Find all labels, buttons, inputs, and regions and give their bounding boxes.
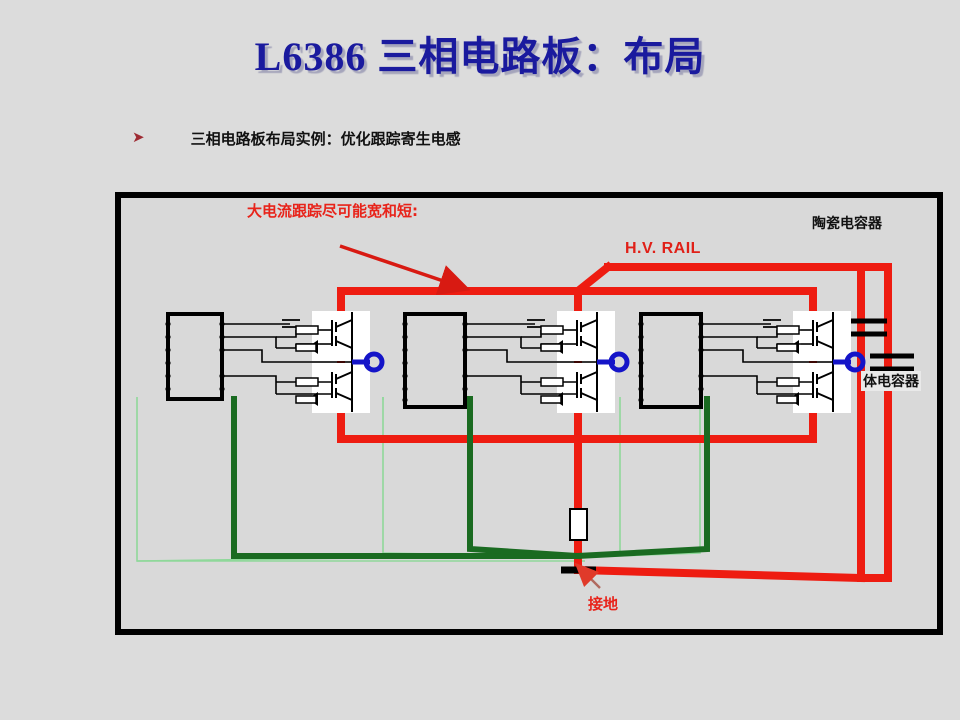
gate-resistor-low bbox=[296, 378, 318, 386]
driver-ic-body bbox=[641, 314, 701, 407]
mosfet-backplate-high bbox=[557, 311, 615, 361]
mosfet-backplate-low bbox=[557, 363, 615, 413]
output-node-terminal bbox=[611, 354, 627, 370]
gate-resistor-high bbox=[296, 326, 318, 334]
driver-ic-body bbox=[168, 314, 222, 399]
gate-resistor-low bbox=[777, 378, 799, 386]
mosfet-backplate-high bbox=[793, 311, 851, 361]
output-node-terminal bbox=[366, 354, 382, 370]
ghost-ground-traces bbox=[137, 397, 700, 561]
phase-w bbox=[638, 311, 863, 413]
output-node-terminal bbox=[847, 354, 863, 370]
phase-u bbox=[165, 311, 382, 413]
mosfet-backplate-low bbox=[793, 363, 851, 413]
mosfet-backplate-high bbox=[312, 311, 370, 361]
driver-ic-body bbox=[405, 314, 465, 407]
circuit-diagram bbox=[0, 0, 960, 720]
ground-return-traces bbox=[234, 399, 707, 556]
shunt-resistor bbox=[570, 509, 587, 540]
ceramic-capacitor-label: 陶瓷电容器 bbox=[812, 213, 882, 233]
mosfet-backplate-low bbox=[312, 363, 370, 413]
wide-short-annotation: 大电流跟踪尽可能宽和短: bbox=[247, 200, 418, 221]
bulk-capacitor-label: 体电容器 bbox=[861, 371, 921, 391]
gate-resistor-high bbox=[777, 326, 799, 334]
slide-canvas: L6386 三相电路板：布局 ➤ 三相电路板布局实例：优化跟踪寄生电感 bbox=[0, 0, 960, 720]
phase-v bbox=[402, 311, 627, 413]
wide-short-pointer-arrow bbox=[340, 246, 464, 288]
ground-label: 接地 bbox=[588, 593, 618, 614]
gate-resistor-low bbox=[541, 378, 563, 386]
gate-resistor-high bbox=[541, 326, 563, 334]
hv-rail-label: H.V. RAIL bbox=[625, 240, 701, 258]
dc-link-capacitors bbox=[843, 321, 914, 369]
